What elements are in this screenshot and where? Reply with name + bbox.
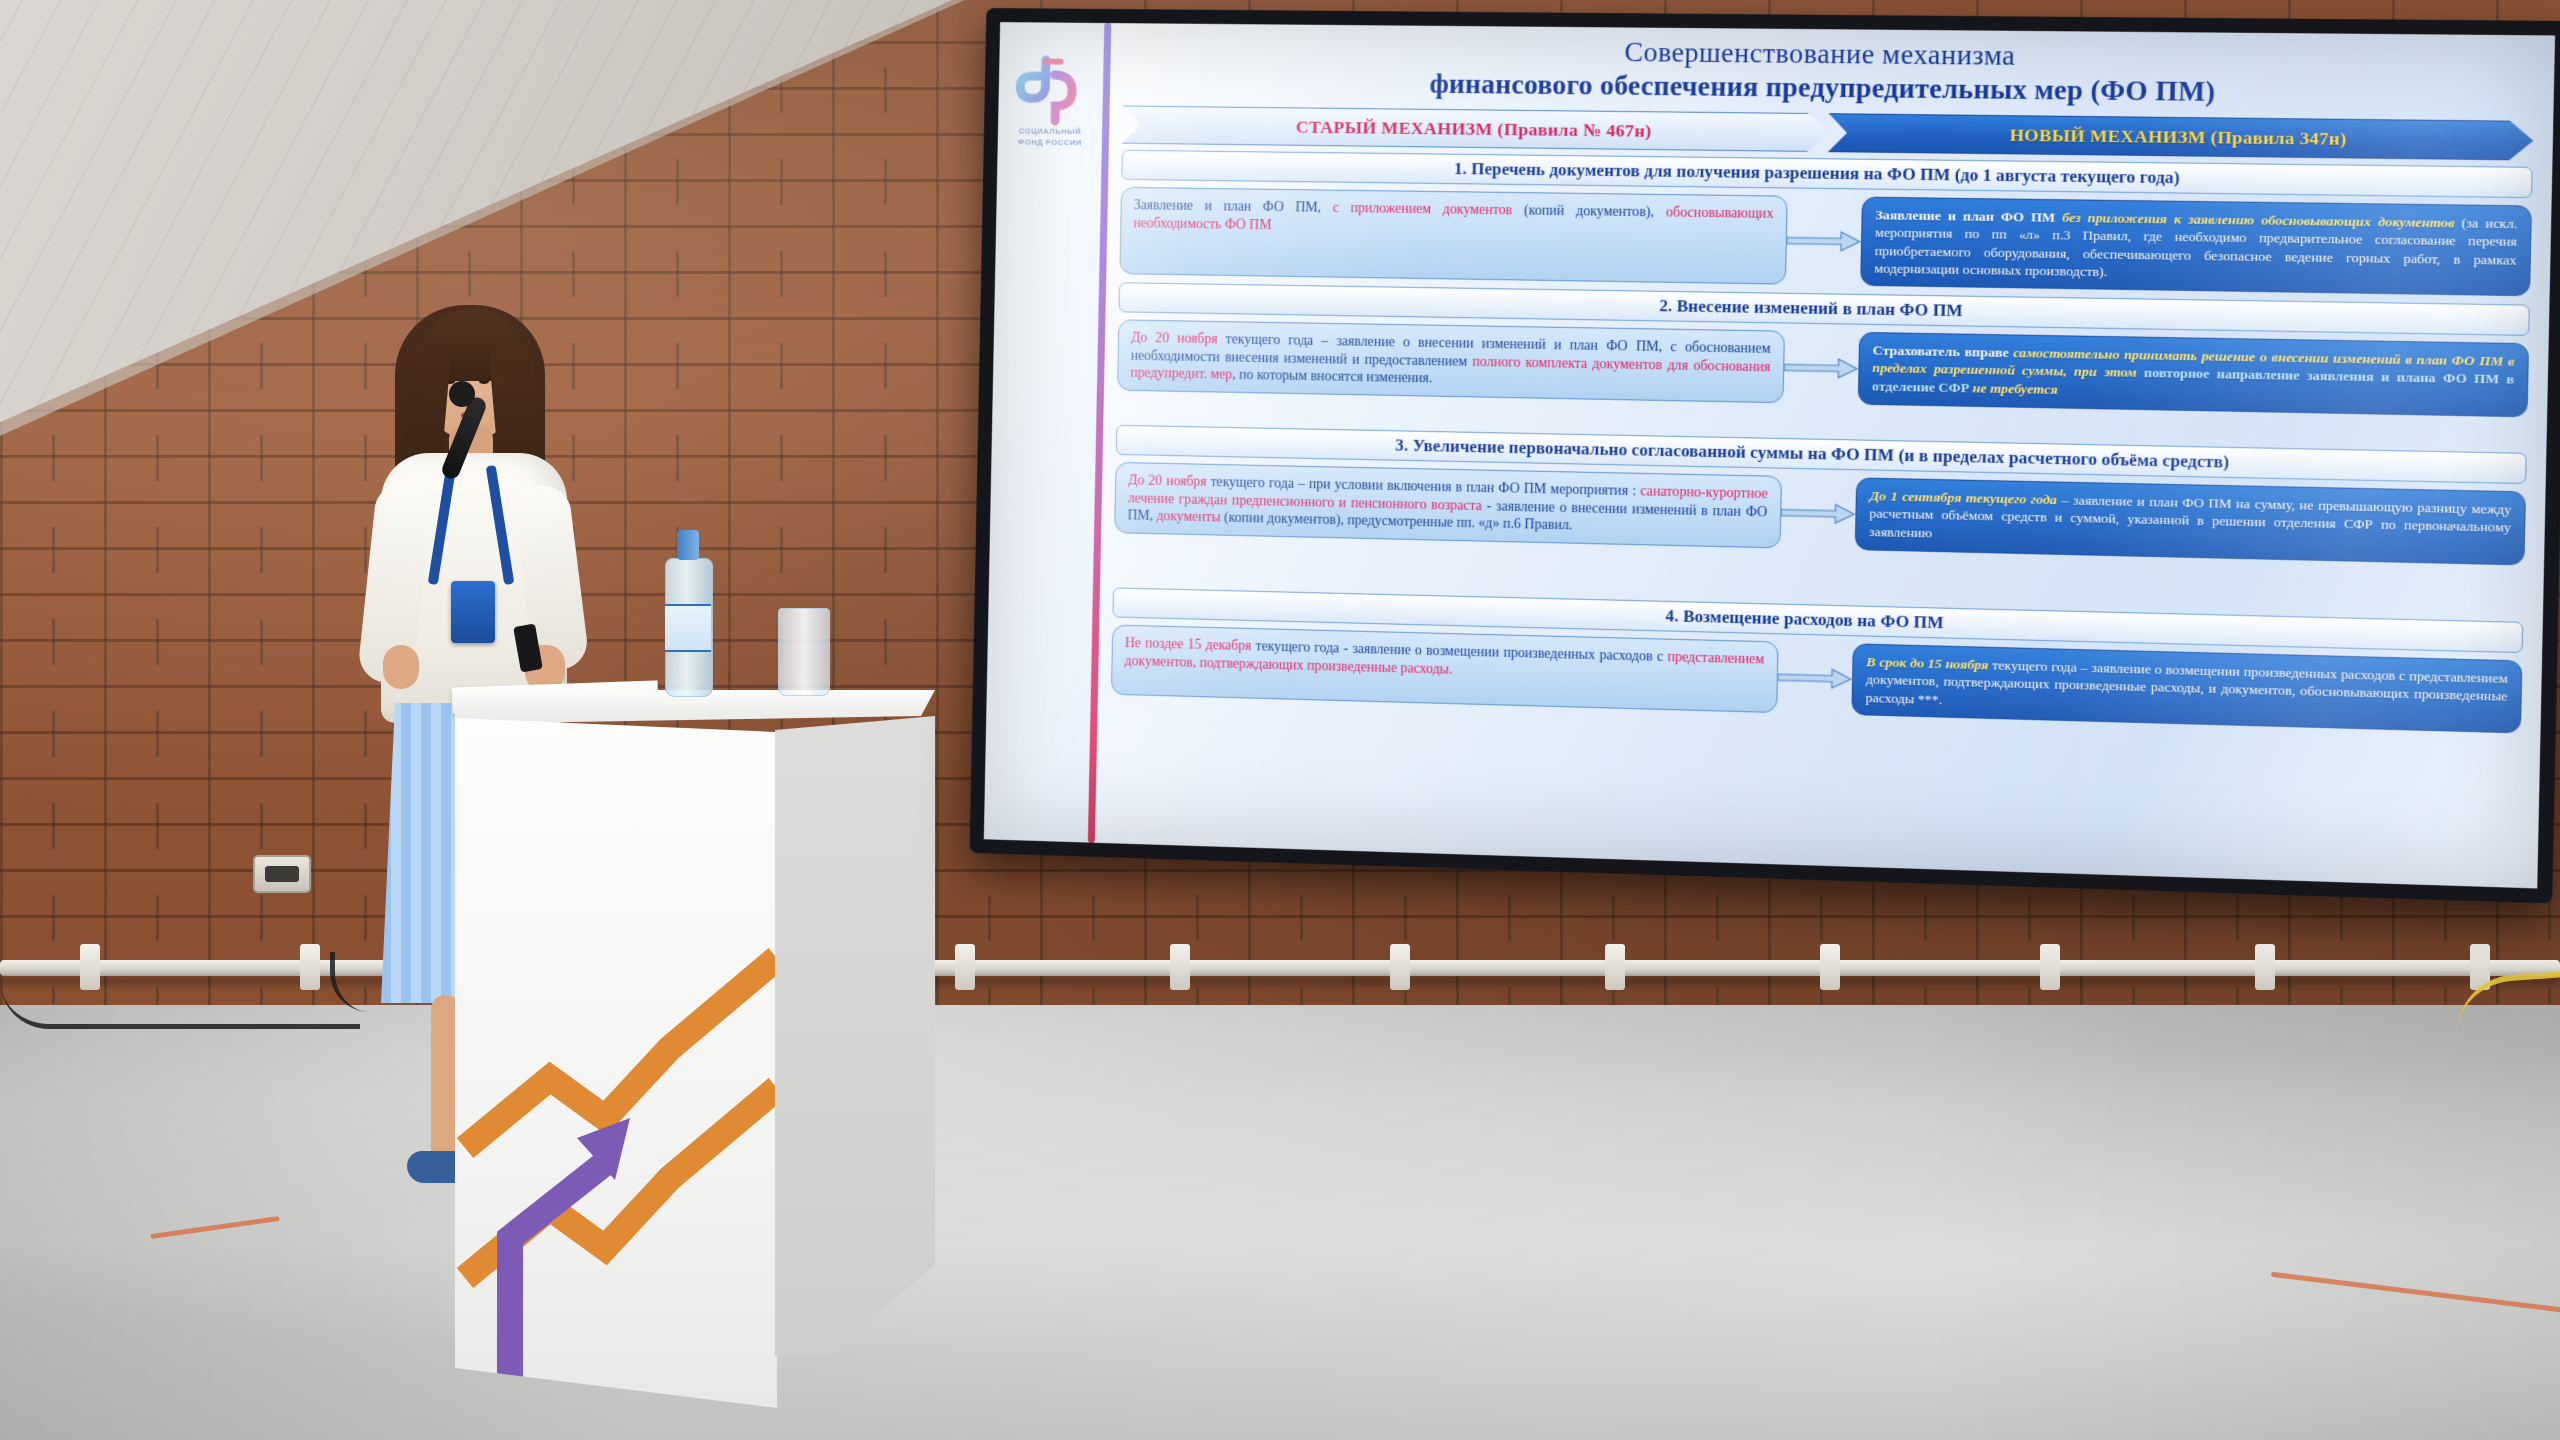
section-1: 1. Перечень документов для получения раз…: [1119, 150, 2532, 297]
drinking-cup: [778, 608, 830, 696]
sfr-logo-caption: СОЦИАЛЬНЫЙ ФОНД РОССИИ: [1002, 126, 1099, 149]
rail-bracket: [1820, 944, 1840, 990]
section-3-old-box: До 20 ноября текущего года – при условии…: [1114, 462, 1782, 549]
section-2-new-box: Страхователь вправе самостоятельно прини…: [1858, 332, 2529, 417]
conference-room-photo: СОЦИАЛЬНЫЙ ФОНД РОССИИ Совершенствование…: [0, 0, 2560, 1440]
socket-slot: [265, 866, 299, 882]
rail-bracket: [955, 944, 975, 990]
microphone-head: [449, 381, 475, 407]
podium-logo: [455, 718, 777, 1408]
banner-new-mechanism: НОВЫЙ МЕХАНИЗМ (Правила 347н): [1828, 113, 2534, 160]
presentation-display[interactable]: СОЦИАЛЬНЫЙ ФОНД РОССИИ Совершенствование…: [970, 8, 2560, 904]
section-3: 3. Увеличение первоначально согласованно…: [1114, 425, 2527, 566]
rail-bracket: [2040, 944, 2060, 990]
name-badge: [451, 581, 495, 643]
water-bottle: [665, 530, 711, 695]
slide-canvas: СОЦИАЛЬНЫЙ ФОНД РОССИИ Совершенствование…: [984, 22, 2555, 888]
section-4-new-box: В срок до 15 ноября текущего года – заяв…: [1852, 643, 2523, 733]
section-1-arrow-icon: [1786, 196, 1863, 286]
section-1-body: Заявление и план ФО ПМ, с приложением до…: [1119, 187, 2532, 297]
slide-title: Совершенствование механизма финансового …: [1129, 31, 2535, 112]
section-2-old-box: До 20 ноября текущего года – заявление о…: [1117, 319, 1785, 403]
bottle-cap: [677, 530, 699, 560]
banner-old-mechanism: СТАРЫЙ МЕХАНИЗМ (Правила № 467н): [1122, 106, 1831, 153]
sfr-logo-line2: ФОНД РОССИИ: [1002, 137, 1098, 149]
section-4-arrow-icon: [1777, 641, 1853, 714]
power-socket[interactable]: [253, 855, 311, 893]
section-2-arrow-icon: [1783, 331, 1859, 405]
hand-left: [383, 645, 419, 689]
podium-side-panel: [775, 716, 935, 1356]
section-3-new-box: До 1 сентября текущего года – заявление …: [1855, 477, 2526, 565]
mechanism-banner-row: СТАРЫЙ МЕХАНИЗМ (Правила № 467н) НОВЫЙ М…: [1122, 106, 2534, 159]
section-4: 4. Возмещение расходов на ФО ПМ Не позде…: [1111, 587, 2523, 733]
section-1-new-box: Заявление и план ФО ПМ без приложения к …: [1860, 197, 2532, 297]
rail-bracket: [1390, 944, 1410, 990]
section-1-old-box: Заявление и план ФО ПМ, с приложением до…: [1119, 187, 1787, 285]
bottle-label: [665, 604, 711, 652]
floor-cable: [0, 980, 360, 1029]
rail-bracket: [1170, 944, 1190, 990]
section-4-old-box: Не поздее 15 декабря текущего года - зая…: [1111, 624, 1778, 712]
sfr-logo-icon: [1012, 52, 1088, 127]
rail-bracket: [2255, 944, 2275, 990]
podium: [455, 690, 935, 1410]
section-3-arrow-icon: [1780, 476, 1856, 550]
display-bezel: СОЦИАЛЬНЫЙ ФОНД РОССИИ Совершенствование…: [970, 8, 2560, 904]
section-2-body: До 20 ноября текущего года – заявление о…: [1117, 319, 2529, 417]
slide-logo-column: СОЦИАЛЬНЫЙ ФОНД РОССИИ: [984, 22, 1105, 842]
section-2: 2. Внесение изменений в план ФО ПМ До 20…: [1117, 282, 2530, 417]
rail-bracket: [1605, 944, 1625, 990]
podium-front-panel: [455, 718, 777, 1408]
